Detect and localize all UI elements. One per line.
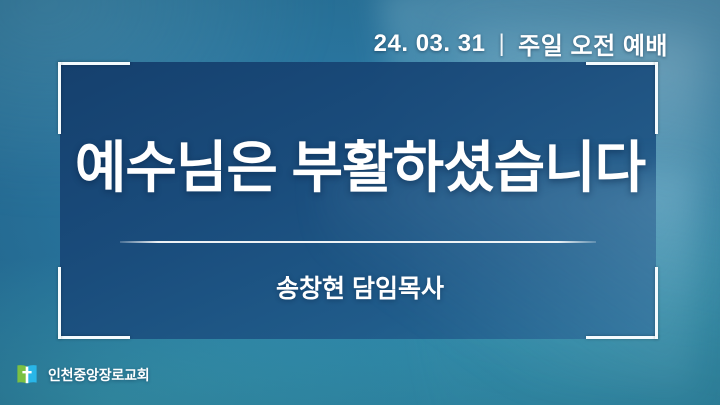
sermon-title: 예수님은 부활하셨습니다 (0, 139, 720, 198)
speaker-name: 송창현 담임목사 (0, 269, 720, 305)
header-separator: | (496, 30, 507, 58)
title-divider (120, 241, 596, 243)
sermon-title-slide: 24. 03. 31 | 주일 오전 예배 예수님은 부활하셨습니다 송창현 담… (0, 0, 720, 405)
service-date: 24. 03. 31 (374, 30, 486, 58)
church-name: 인천중앙장로교회 (48, 365, 149, 385)
slide-header: 24. 03. 31 | 주일 오전 예배 (374, 26, 668, 61)
church-logo: 인천중앙장로교회 (14, 362, 149, 388)
service-name: 주일 오전 예배 (518, 26, 668, 61)
open-book-cross-icon (14, 362, 40, 388)
